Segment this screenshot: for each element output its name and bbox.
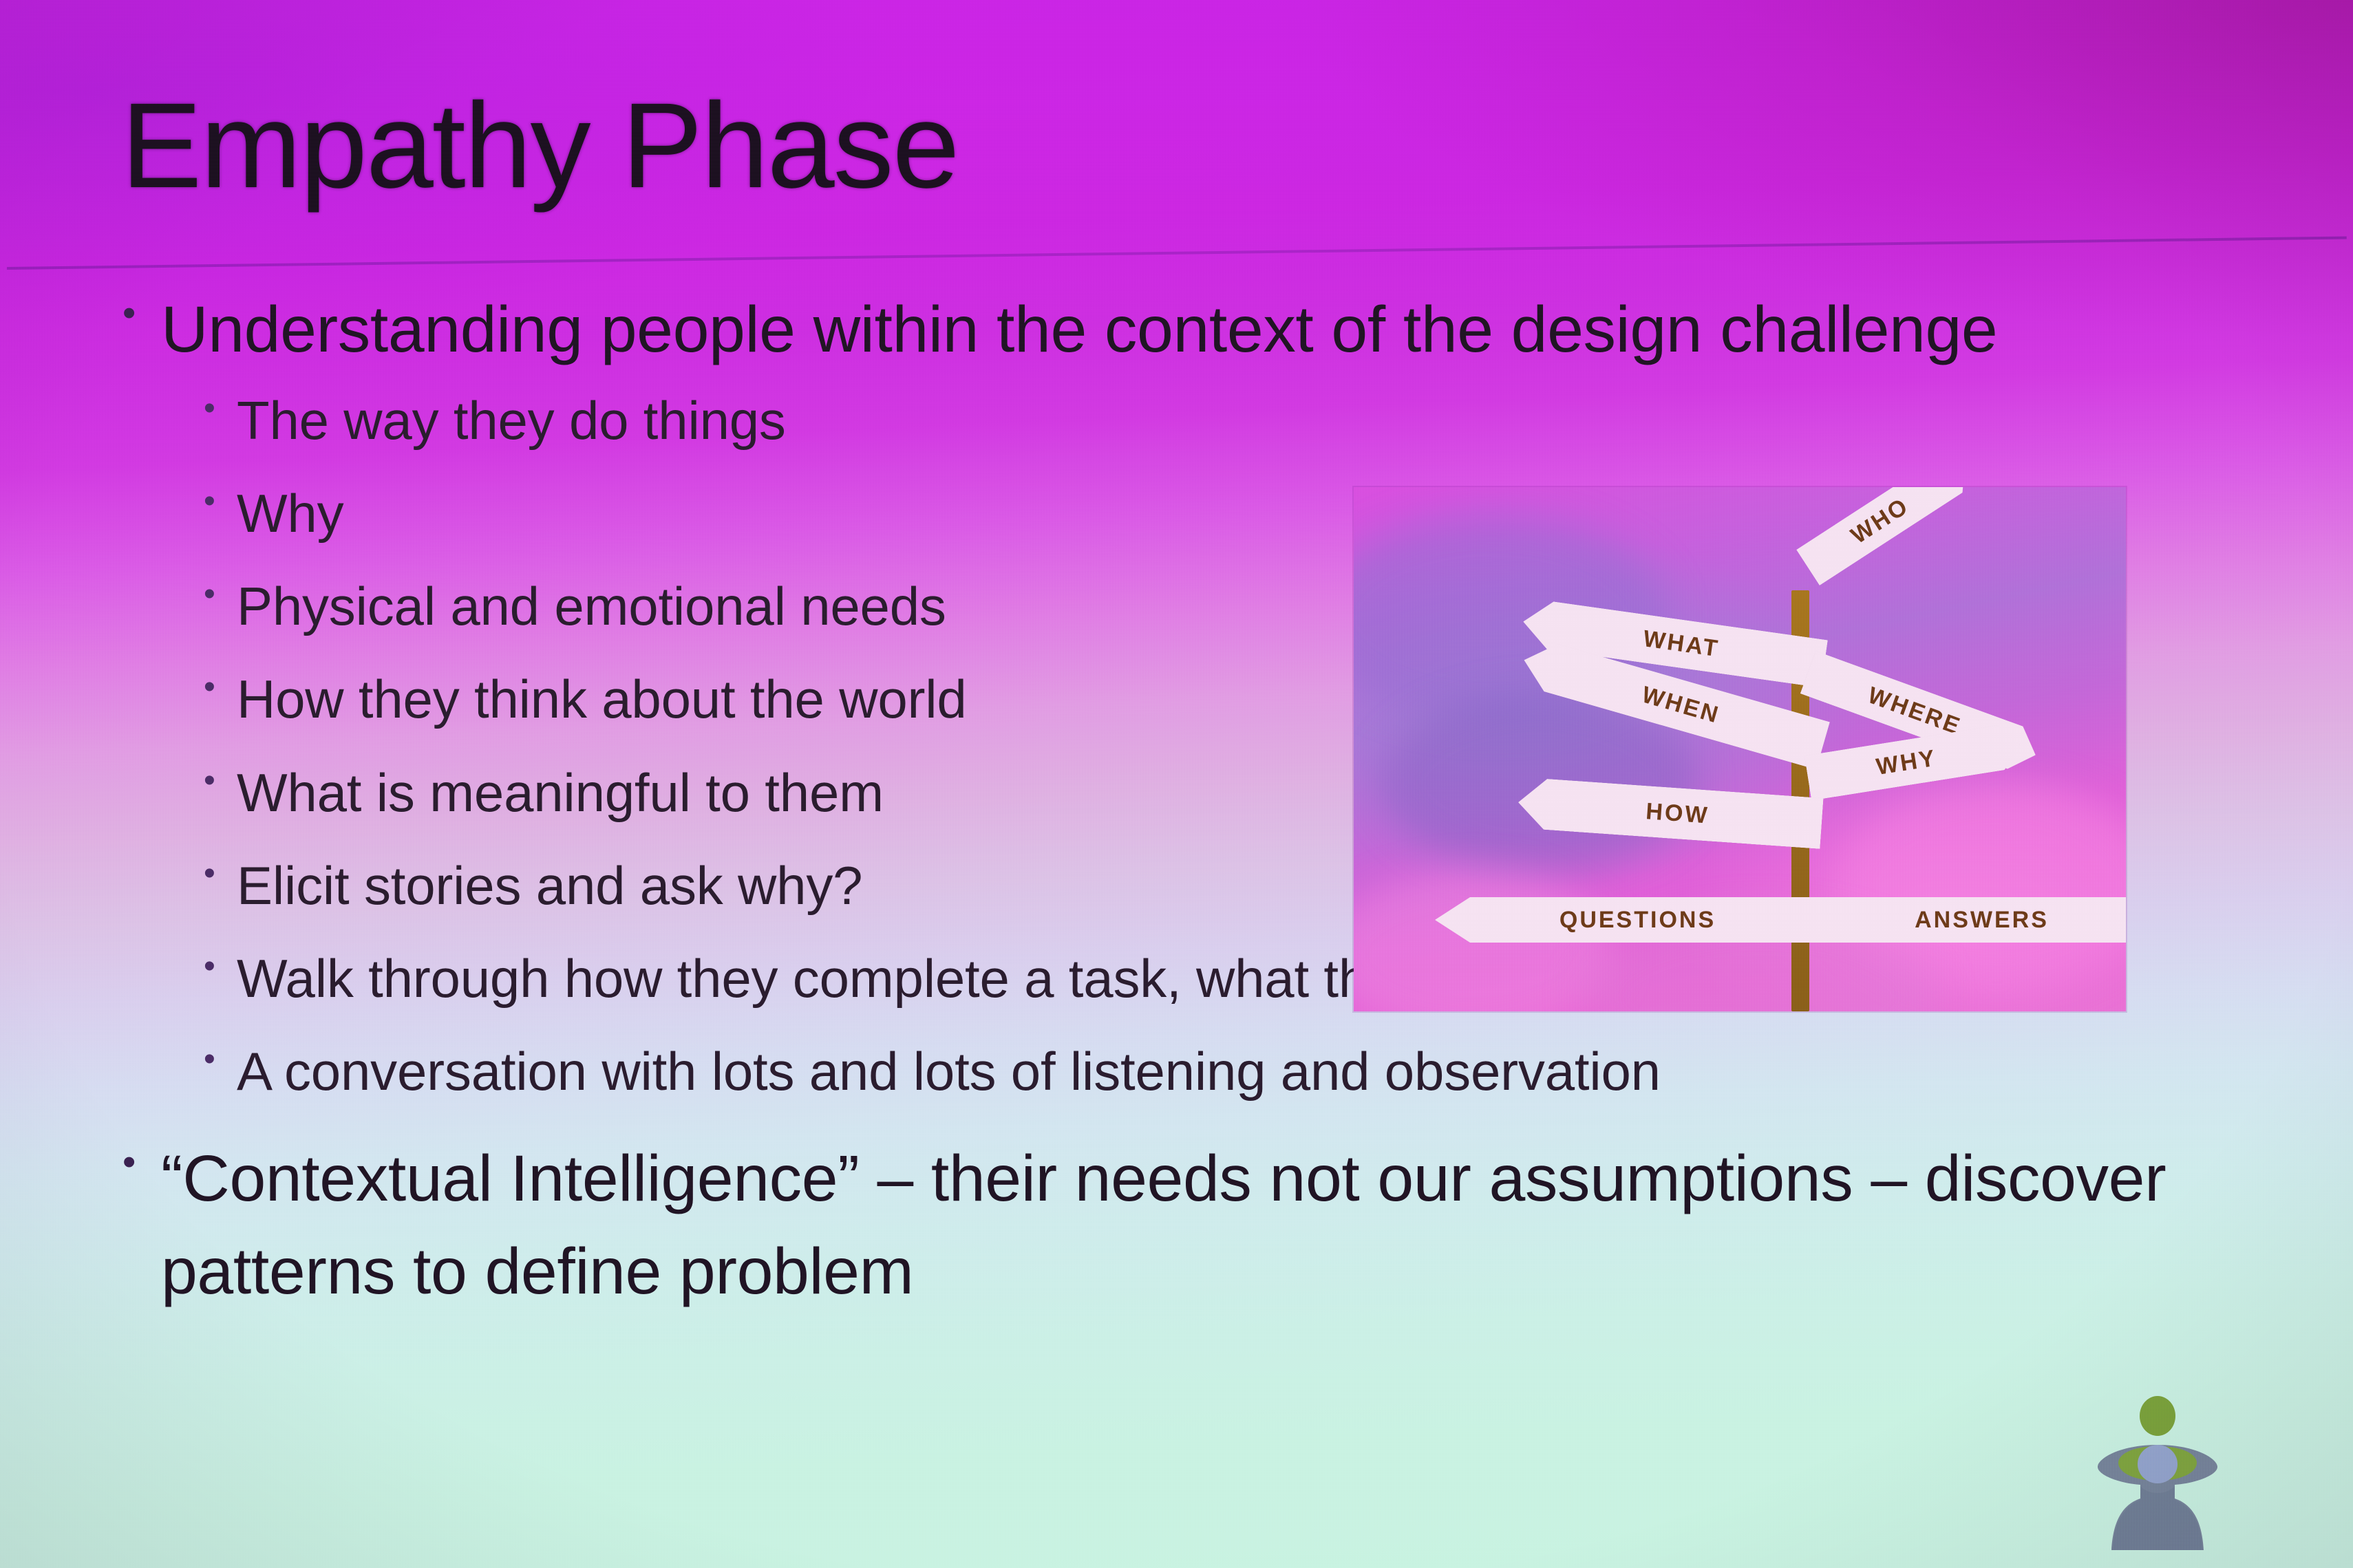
signpost-photo: WHO WHAT WHERE WHEN WHY HOW QUESTIONS AN…: [1354, 487, 2126, 1011]
bullet-level2-conversation-listening: • A conversation with lots and lots of l…: [204, 1034, 2270, 1109]
bullet-text: Understanding people within the context …: [161, 283, 2270, 376]
bullet-level1-contextual-intelligence: • “Contextual Intelligence” – their need…: [123, 1132, 2270, 1318]
slide-title: Empathy Phase: [121, 85, 958, 206]
bullet-marker-icon: •: [204, 476, 237, 527]
bullet-marker-icon: •: [204, 383, 237, 434]
bullet-marker-icon: •: [204, 569, 237, 620]
bullet-level2-way-they-do-things: • The way they do things: [204, 383, 2270, 458]
presentation-slide: Empathy Phase • Understanding people wit…: [0, 0, 2353, 1568]
bullet-text: The way they do things: [237, 383, 2270, 458]
bullet-marker-icon: •: [123, 1132, 161, 1191]
bullet-marker-icon: •: [204, 1034, 237, 1085]
bullet-marker-icon: •: [204, 848, 237, 899]
bullet-text: A conversation with lots and lots of lis…: [237, 1034, 2270, 1109]
bullet-marker-icon: •: [204, 662, 237, 713]
bullet-marker-icon: •: [123, 283, 161, 342]
bullet-marker-icon: •: [204, 941, 237, 992]
person-figure-icon: [2092, 1395, 2223, 1554]
bullet-level1-understanding: • Understanding people within the contex…: [123, 283, 2270, 376]
photo-grain-overlay: [1354, 487, 2126, 1011]
title-divider: [7, 236, 2347, 270]
bullet-marker-icon: •: [204, 755, 237, 806]
person-figure-logo: [2092, 1395, 2223, 1554]
bullet-text: “Contextual Intelligence” – their needs …: [161, 1132, 2270, 1318]
